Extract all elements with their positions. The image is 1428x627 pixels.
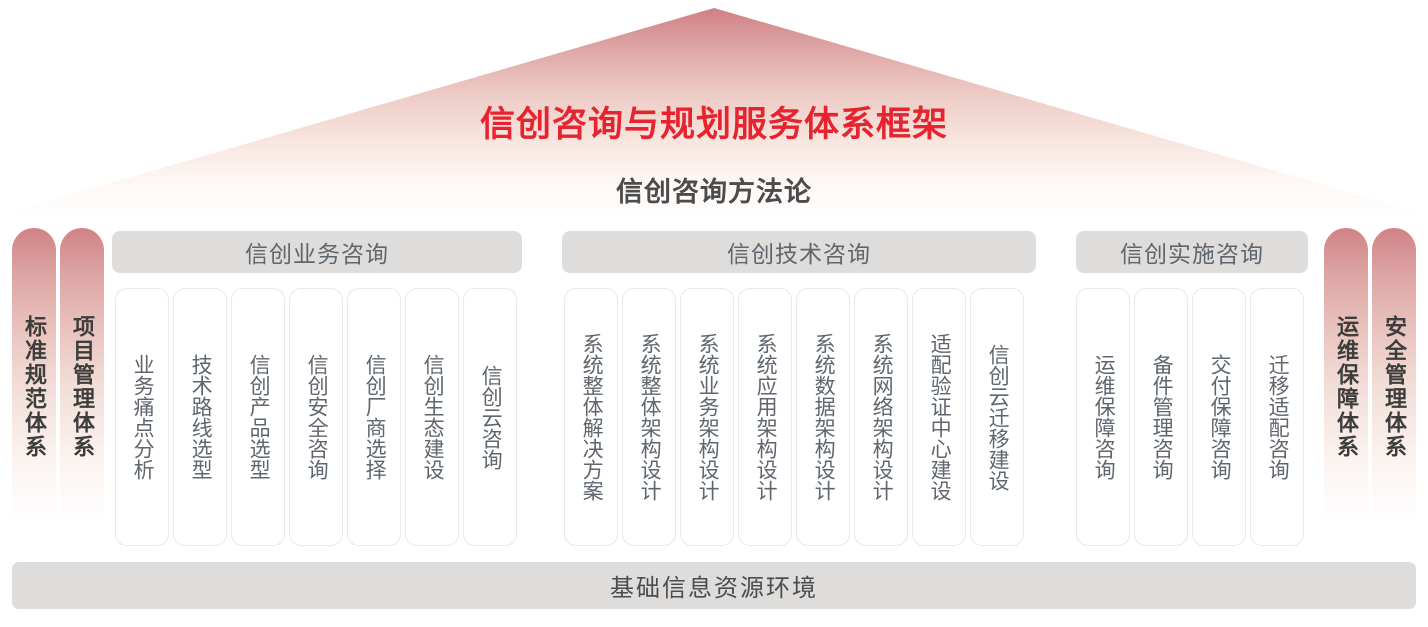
- group-header-technical-label: 信创技术咨询: [727, 235, 871, 269]
- card-technical-5[interactable]: 系统数据架构设计: [796, 288, 850, 546]
- card-technical-3[interactable]: 系统业务架构设计: [680, 288, 734, 546]
- side-pillar-project-label: 项目管理体系: [60, 228, 104, 546]
- card-business-2-label: 技术路线选型: [174, 289, 226, 545]
- card-technical-8-label: 信创云迁移建设: [971, 289, 1023, 545]
- group-header-technical: 信创技术咨询: [562, 231, 1036, 273]
- card-technical-6-label: 系统网络架构设计: [855, 289, 907, 545]
- card-business-7[interactable]: 信创云咨询: [463, 288, 517, 546]
- card-technical-1-label: 系统整体解决方案: [565, 289, 617, 545]
- card-technical-2-label: 系统整体架构设计: [623, 289, 675, 545]
- card-technical-7[interactable]: 适配验证中心建设: [912, 288, 966, 546]
- card-business-1[interactable]: 业务痛点分析: [115, 288, 169, 546]
- card-business-4-label: 信创安全咨询: [290, 289, 342, 545]
- card-business-5[interactable]: 信创厂商选择: [347, 288, 401, 546]
- group-header-business-label: 信创业务咨询: [245, 235, 389, 269]
- card-technical-4[interactable]: 系统应用架构设计: [738, 288, 792, 546]
- foundation-bar: 基础信息资源环境: [12, 562, 1416, 609]
- side-pillar-project: 项目管理体系: [60, 228, 104, 546]
- card-business-1-label: 业务痛点分析: [116, 289, 168, 545]
- group-header-implementation: 信创实施咨询: [1076, 231, 1308, 273]
- card-implementation-3-label: 交付保障咨询: [1193, 289, 1245, 545]
- card-business-2[interactable]: 技术路线选型: [173, 288, 227, 546]
- card-technical-4-label: 系统应用架构设计: [739, 289, 791, 545]
- card-business-6-label: 信创生态建设: [406, 289, 458, 545]
- card-technical-1[interactable]: 系统整体解决方案: [564, 288, 618, 546]
- card-implementation-3[interactable]: 交付保障咨询: [1192, 288, 1246, 546]
- card-technical-8[interactable]: 信创云迁移建设: [970, 288, 1024, 546]
- side-pillar-ops-label: 运维保障体系: [1324, 228, 1368, 546]
- page-title: 信创咨询与规划服务体系框架: [0, 96, 1428, 147]
- architecture-diagram: 信创咨询与规划服务体系框架 信创咨询方法论 标准规范体系 项目管理体系 运维保障…: [0, 0, 1428, 627]
- foundation-bar-label: 基础信息资源环境: [610, 568, 818, 603]
- side-pillar-standard: 标准规范体系: [12, 228, 56, 546]
- card-technical-5-label: 系统数据架构设计: [797, 289, 849, 545]
- card-business-4[interactable]: 信创安全咨询: [289, 288, 343, 546]
- card-business-7-label: 信创云咨询: [464, 289, 516, 545]
- card-technical-6[interactable]: 系统网络架构设计: [854, 288, 908, 546]
- card-technical-7-label: 适配验证中心建设: [913, 289, 965, 545]
- card-implementation-2-label: 备件管理咨询: [1135, 289, 1187, 545]
- side-pillar-security: 安全管理体系: [1372, 228, 1416, 546]
- card-business-6[interactable]: 信创生态建设: [405, 288, 459, 546]
- side-pillar-standard-label: 标准规范体系: [12, 228, 56, 546]
- card-technical-2[interactable]: 系统整体架构设计: [622, 288, 676, 546]
- page-subtitle: 信创咨询方法论: [0, 170, 1428, 209]
- card-business-3[interactable]: 信创产品选型: [231, 288, 285, 546]
- card-technical-3-label: 系统业务架构设计: [681, 289, 733, 545]
- card-business-5-label: 信创厂商选择: [348, 289, 400, 545]
- card-business-3-label: 信创产品选型: [232, 289, 284, 545]
- side-pillar-security-label: 安全管理体系: [1372, 228, 1416, 546]
- card-implementation-2[interactable]: 备件管理咨询: [1134, 288, 1188, 546]
- card-implementation-4-label: 迁移适配咨询: [1251, 289, 1303, 545]
- group-header-implementation-label: 信创实施咨询: [1120, 235, 1264, 269]
- card-implementation-4[interactable]: 迁移适配咨询: [1250, 288, 1304, 546]
- card-implementation-1[interactable]: 运维保障咨询: [1076, 288, 1130, 546]
- card-implementation-1-label: 运维保障咨询: [1077, 289, 1129, 545]
- group-header-business: 信创业务咨询: [112, 231, 522, 273]
- side-pillar-ops: 运维保障体系: [1324, 228, 1368, 546]
